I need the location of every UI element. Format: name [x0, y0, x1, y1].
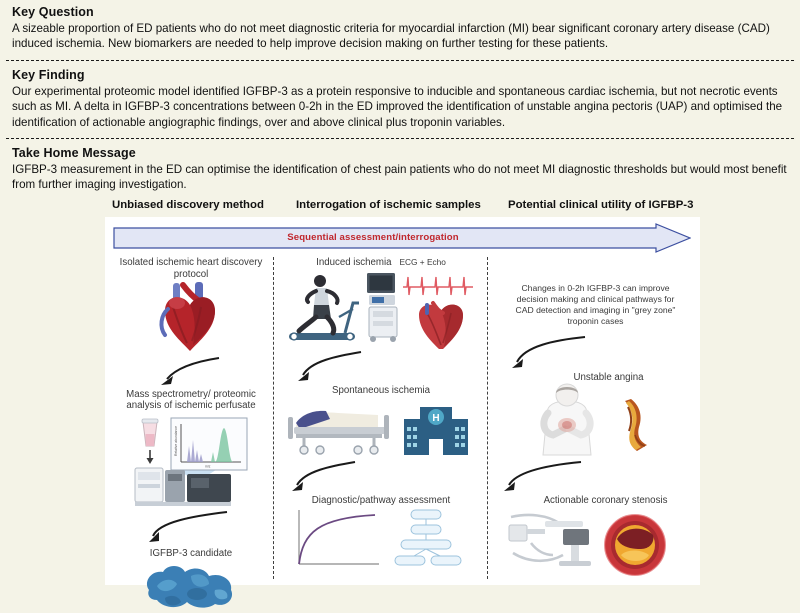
divider-1: [6, 60, 794, 61]
column-separator-1: [273, 257, 274, 579]
flow-arrow-icon: [289, 349, 375, 385]
figure-diagram: Unbiased discovery method Interrogation …: [0, 199, 800, 589]
flow-arrow-icon: [151, 355, 231, 389]
induced-ischemia-label: Induced ischemia: [316, 257, 391, 269]
figure-column-headers: Unbiased discovery method Interrogation …: [0, 199, 800, 217]
spontaneous-ischemia-icon: H: [286, 397, 476, 459]
actionable-stenosis-icon: [501, 507, 691, 579]
igfbp3-candidate-label: IGFBP-3 candidate: [109, 548, 273, 560]
column-header-clinical-utility: Potential clinical utility of IGFBP-3: [508, 199, 693, 211]
column-unbiased-discovery: Isolated ischemic heart discovery protoc…: [109, 257, 273, 612]
flow-arrow-icon: [143, 508, 239, 548]
spontaneous-ischemia-label: Spontaneous ischemia: [277, 385, 485, 397]
ecg-echo-label: ECG + Echo: [400, 257, 446, 267]
key-finding-body: Our experimental proteomic model identif…: [12, 84, 788, 130]
hospital-h-sign: H: [432, 413, 439, 424]
sequential-assessment-banner: Sequential assessment/interrogation: [113, 223, 691, 253]
coronary-stenosis-label: Actionable coronary stenosis: [513, 495, 698, 507]
take-home-heading: Take Home Message: [12, 146, 788, 160]
column-separator-2: [487, 257, 488, 579]
unstable-angina-icon: [521, 383, 671, 457]
column-header-interrogation: Interrogation of ischemic samples: [296, 199, 481, 211]
take-home-body: IGFBP-3 measurement in the ED can optimi…: [12, 162, 788, 193]
isolated-heart-icon: [143, 281, 239, 355]
mass-spectrometry-icon: Relative abundance m/z: [127, 412, 255, 508]
divider-2: [6, 138, 794, 139]
flow-arrow-icon: [497, 459, 597, 495]
section-key-finding: Key Finding Our experimental proteomic m…: [0, 63, 800, 134]
diagnostic-pathway-icon: [283, 506, 479, 572]
svg-text:m/z: m/z: [205, 465, 211, 469]
induced-ischemia-icon: [283, 269, 479, 349]
graphical-abstract: Key Question A sizeable proportion of ED…: [0, 0, 800, 613]
mass-spectrometry-label: Mass spectrometry/ proteomic analysis of…: [109, 389, 273, 413]
igfbp3-protein-icon: [135, 560, 247, 612]
banner-label: Sequential assessment/interrogation: [113, 223, 633, 253]
isolated-heart-label: Isolated ischemic heart discovery protoc…: [109, 257, 273, 281]
column-interrogation: Induced ischemia ECG + Echo: [277, 257, 485, 572]
unstable-angina-label: Unstable angina: [519, 372, 698, 384]
flow-arrow-icon: [503, 334, 603, 372]
key-question-heading: Key Question: [12, 5, 788, 19]
section-key-question: Key Question A sizeable proportion of ED…: [0, 0, 800, 56]
column-header-discovery: Unbiased discovery method: [112, 199, 264, 211]
flow-arrow-icon: [283, 459, 369, 495]
diagnostic-pathway-label: Diagnostic/pathway assessment: [277, 495, 485, 507]
figure-panel: Sequential assessment/interrogation Isol…: [105, 217, 700, 585]
key-question-body: A sizeable proportion of ED patients who…: [12, 21, 788, 52]
clinical-utility-text: Changes in 0-2h IGFBP-3 can improve deci…: [493, 257, 698, 328]
svg-text:Relative abundance: Relative abundance: [174, 426, 178, 456]
column-clinical-utility: Changes in 0-2h IGFBP-3 can improve deci…: [493, 257, 698, 579]
key-finding-heading: Key Finding: [12, 68, 788, 82]
section-take-home-message: Take Home Message IGFBP-3 measurement in…: [0, 141, 800, 197]
